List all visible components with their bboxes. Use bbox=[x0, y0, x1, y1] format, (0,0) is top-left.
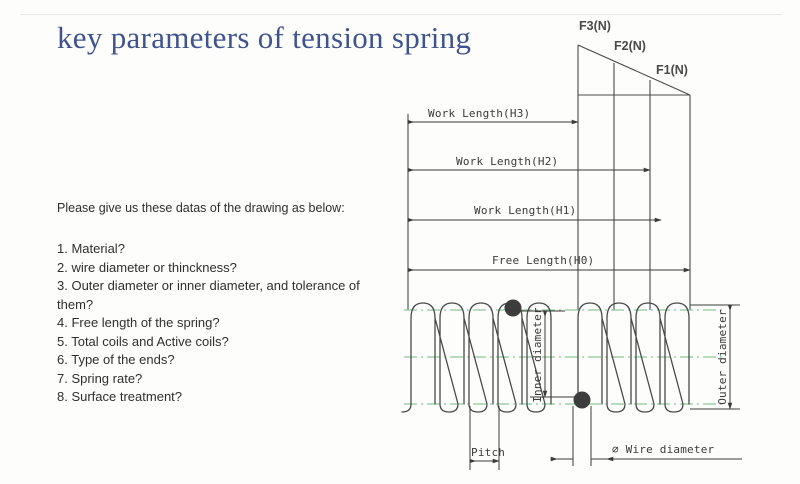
spring-technical-drawing: F3(N) F2(N) F1(N) Work Length(H3) Work L… bbox=[0, 0, 800, 484]
wire-section-dot-lower bbox=[574, 392, 591, 409]
wire-section-dot-upper bbox=[505, 300, 522, 317]
wire-diameter-label: ⌀ Wire diameter bbox=[612, 443, 715, 456]
dimension-lines bbox=[408, 122, 690, 270]
outer-diameter-label: Outer diameter bbox=[716, 309, 729, 405]
center-lines bbox=[404, 310, 722, 404]
wire-diameter-dimension bbox=[557, 406, 742, 466]
dim-label-h2: Work Length(H2) bbox=[456, 155, 558, 168]
pitch-label: Pitch bbox=[471, 446, 505, 459]
slide-canvas: key parameters of tension spring Please … bbox=[0, 0, 800, 484]
dim-label-h0: Free Length(H0) bbox=[492, 254, 594, 267]
force-label-f3: F3(N) bbox=[579, 19, 611, 33]
inner-diameter-label: Inner diameter bbox=[531, 307, 544, 403]
dim-label-h1: Work Length(H1) bbox=[474, 204, 576, 217]
force-label-f1: F1(N) bbox=[656, 63, 688, 77]
force-label-f2: F2(N) bbox=[614, 39, 646, 53]
pitch-dimension bbox=[470, 406, 499, 470]
dim-label-h3: Work Length(H3) bbox=[428, 107, 530, 120]
